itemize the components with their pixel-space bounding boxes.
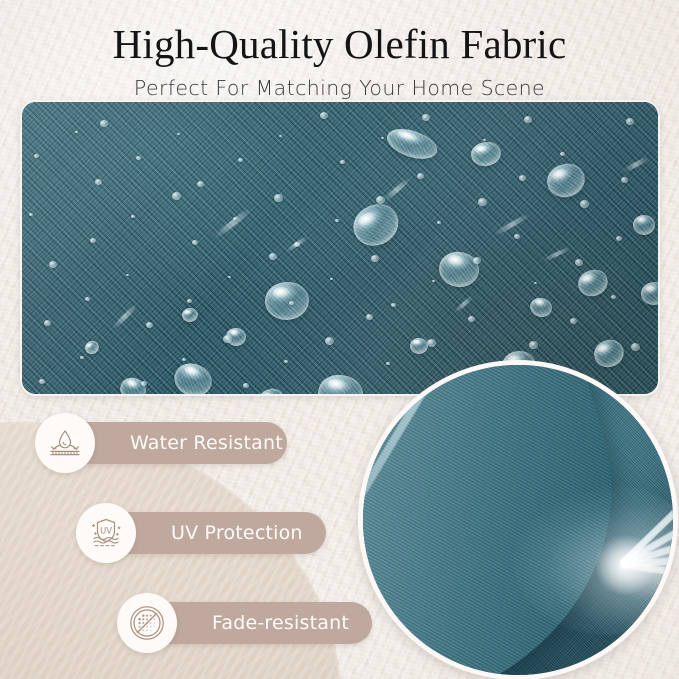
fabric-detail-circle — [358, 360, 678, 679]
fade-dot — [150, 630, 151, 631]
fade-dot — [150, 615, 152, 617]
page-title: High-Quality Olefin Fabric — [0, 24, 679, 65]
feature-label: UV Protection — [171, 522, 303, 544]
svg-text:UV: UV — [100, 526, 112, 536]
fade-dot — [146, 618, 148, 620]
feature-pill-water-resistant[interactable]: Water Resistant — [62, 422, 287, 464]
feature-label: Water Resistant — [130, 432, 283, 454]
fade-dot — [146, 630, 148, 632]
sun-glow-core — [595, 535, 655, 595]
fade-dot — [154, 622, 156, 624]
fade-dot — [154, 618, 156, 620]
fade-dot — [146, 626, 148, 628]
fade-dot — [138, 618, 141, 621]
feature-pill-uv-protection[interactable]: UV UV Protection — [103, 512, 326, 554]
uv-shield-icon: UV — [76, 503, 136, 563]
fade-dot — [138, 622, 140, 624]
infographic-canvas: High-Quality Olefin Fabric Perfect For M… — [0, 0, 679, 679]
feature-pill-fade-resistant[interactable]: Fade-resistant — [144, 602, 372, 644]
fade-dot — [150, 622, 152, 624]
fade-dot — [142, 622, 144, 624]
fade-dots-icon — [117, 593, 177, 653]
water-droplet-repel-icon — [35, 413, 95, 473]
hero-fabric-photo — [20, 100, 660, 396]
fade-dot — [139, 626, 141, 628]
fade-dot — [142, 618, 144, 620]
fade-dot — [142, 630, 144, 632]
fade-dot — [154, 626, 155, 627]
fade-dot — [146, 614, 148, 616]
fade-dot — [150, 626, 152, 628]
feature-label: Fade-resistant — [212, 612, 349, 634]
fabric-sheen-overlay — [22, 102, 658, 394]
fade-dot — [142, 614, 145, 617]
page-subtitle: Perfect For Matching Your Home Scene — [0, 76, 679, 100]
header: High-Quality Olefin Fabric Perfect For M… — [0, 0, 679, 100]
